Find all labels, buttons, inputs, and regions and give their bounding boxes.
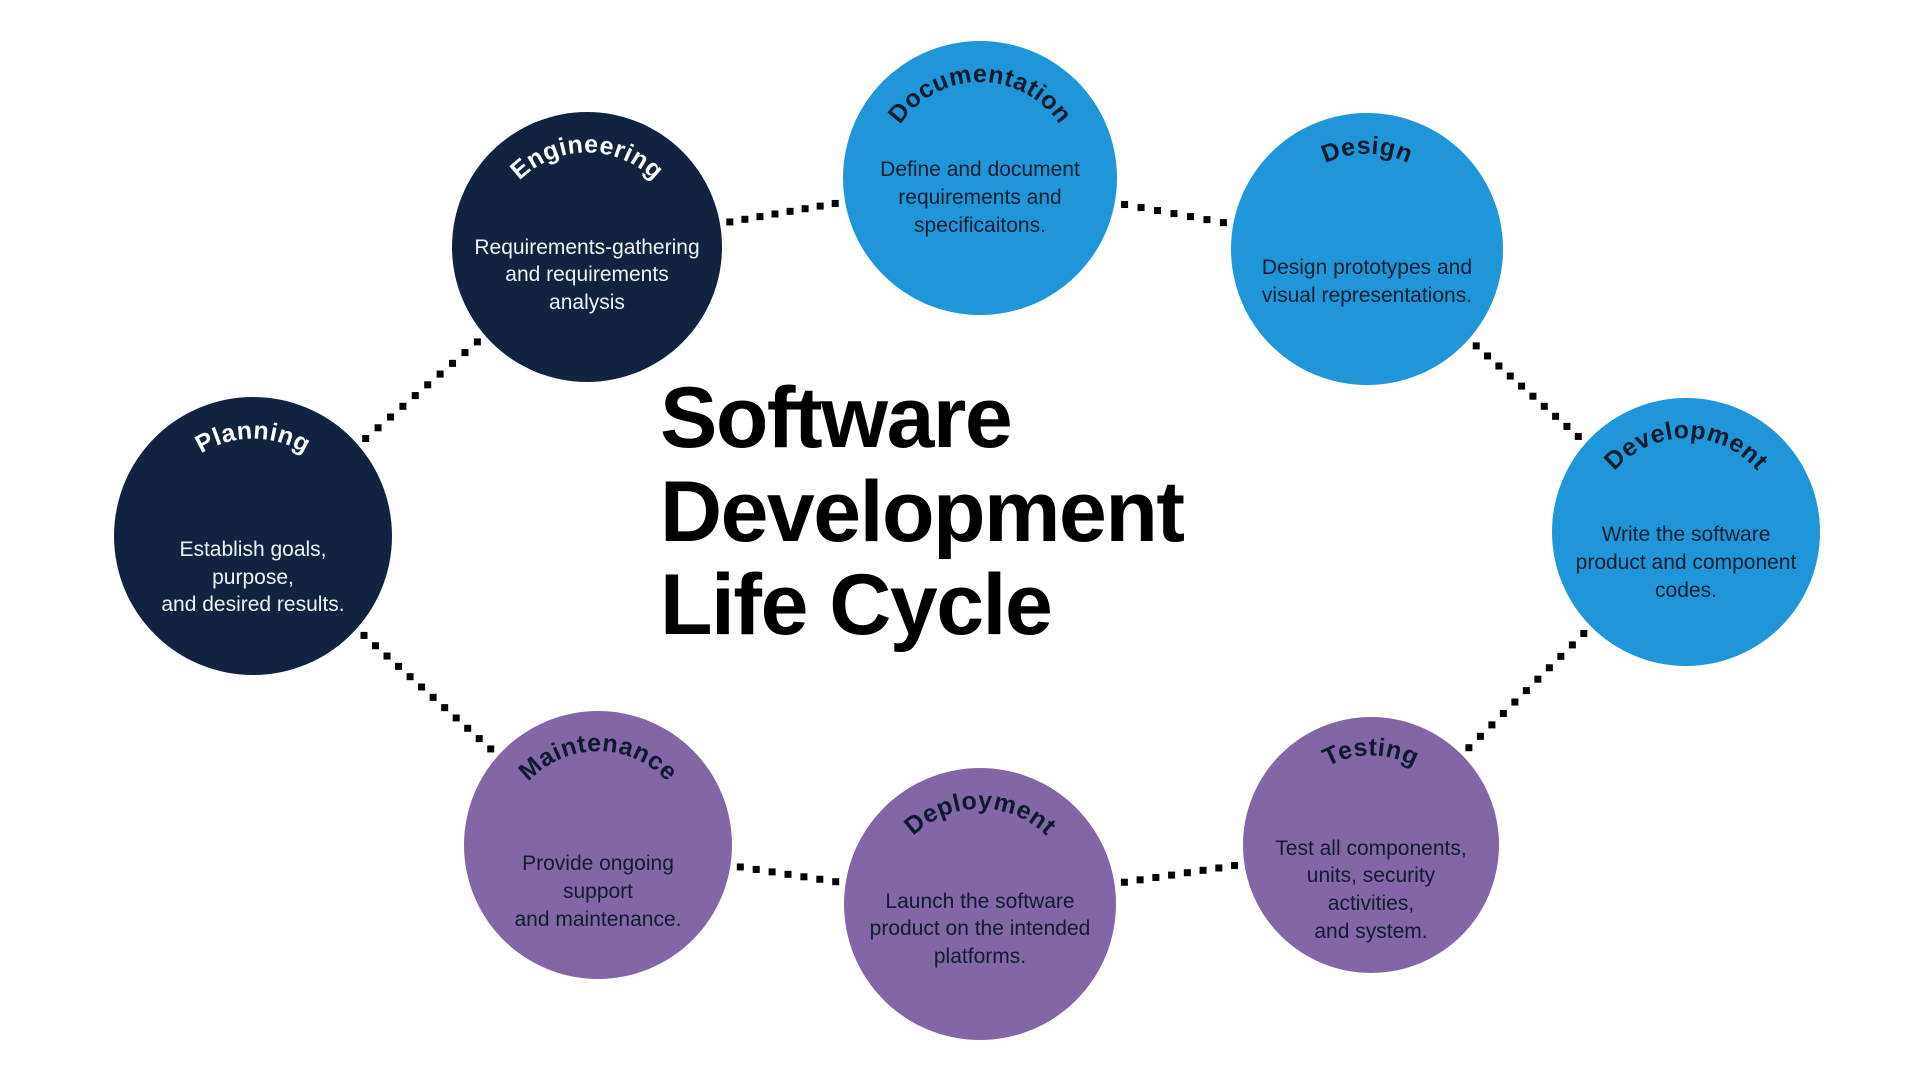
connector-engineering-to-documentation <box>726 200 838 226</box>
node-development[interactable]: DevelopmentWrite the software product an… <box>1552 398 1820 666</box>
node-maintenance[interactable]: MaintenanceProvide ongoing support and m… <box>464 711 732 979</box>
node-label-arc: Design <box>1231 113 1503 385</box>
svg-text:Engineering: Engineering <box>505 130 669 185</box>
page-title: Software Development Life Cycle <box>660 372 1184 653</box>
node-design[interactable]: DesignDesign prototypes and visual repre… <box>1231 113 1503 385</box>
node-body-text: Requirements-gathering and requirements … <box>474 234 701 317</box>
svg-text:Planning: Planning <box>191 416 316 458</box>
svg-text:Maintenance: Maintenance <box>513 729 683 786</box>
connector-documentation-to-design <box>1121 201 1227 226</box>
svg-text:Documentation: Documentation <box>883 60 1078 128</box>
node-body-text: Write the software product and component… <box>1573 521 1798 604</box>
node-documentation[interactable]: DocumentationDefine and document require… <box>843 41 1117 315</box>
node-label-arc: Maintenance <box>464 711 732 979</box>
node-deployment[interactable]: DeploymentLaunch the software product on… <box>844 768 1116 1040</box>
node-body-text: Define and document requirements and spe… <box>865 156 1095 239</box>
node-body-text: Launch the software product on the inten… <box>866 888 1094 971</box>
node-body-text: Establish goals, purpose, and desired re… <box>136 536 370 619</box>
svg-text:Development: Development <box>1599 416 1774 476</box>
node-body-text: Provide ongoing support and maintenance. <box>485 850 710 933</box>
node-body-text: Design prototypes and visual representat… <box>1253 254 1481 309</box>
node-body-text: Test all components, units, security act… <box>1263 835 1478 946</box>
sdlc-diagram: PlanningEstablish goals, purpose, and de… <box>0 0 1920 1080</box>
node-engineering[interactable]: EngineeringRequirements-gathering and re… <box>452 112 722 382</box>
connector-deployment-to-maintenance <box>737 863 839 885</box>
node-testing[interactable]: TestingTest all components, units, secur… <box>1243 717 1499 973</box>
connector-testing-to-deployment <box>1121 862 1238 886</box>
svg-text:Design: Design <box>1317 132 1416 169</box>
node-planning[interactable]: PlanningEstablish goals, purpose, and de… <box>114 397 392 675</box>
svg-text:Deployment: Deployment <box>899 787 1062 841</box>
svg-text:Testing: Testing <box>1318 733 1423 772</box>
